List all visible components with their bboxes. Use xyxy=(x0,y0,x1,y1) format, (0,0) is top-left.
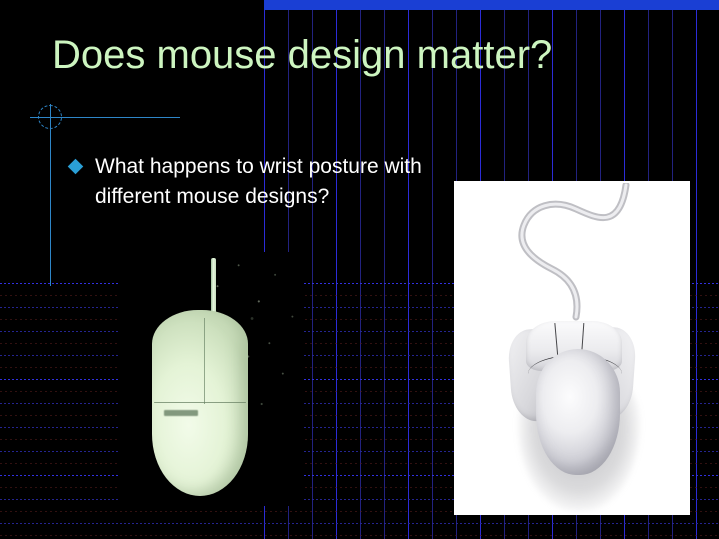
decoration-circle-icon xyxy=(38,105,62,129)
top-accent-bar xyxy=(264,0,719,10)
image-left-mouse-button-divider xyxy=(204,318,205,404)
image-left-mouse-seam xyxy=(154,402,246,403)
bullet-text: What happens to wrist posture with diffe… xyxy=(95,152,430,212)
slide-title: Does mouse design matter? xyxy=(52,31,672,79)
image-left-caption: conventional symmetric computer mouse on… xyxy=(120,252,121,253)
image-conventional-mouse: conventional symmetric computer mouse on… xyxy=(120,252,302,506)
bullet-list-item: What happens to wrist posture with diffe… xyxy=(70,152,430,212)
image-right-mouse-palm-rest xyxy=(536,349,620,475)
image-left-mouse-logo xyxy=(164,410,198,416)
image-ergonomic-mouse: ergonomic contoured computer mouse with … xyxy=(454,181,690,515)
image-right-mouse-cord xyxy=(480,183,630,321)
slide: Does mouse design matter? What happens t… xyxy=(0,0,719,539)
decoration-vertical-rule xyxy=(50,104,51,286)
diamond-bullet-icon xyxy=(68,159,84,175)
image-right-caption: ergonomic contoured computer mouse with … xyxy=(454,181,455,182)
image-left-mouse-body xyxy=(152,310,248,496)
